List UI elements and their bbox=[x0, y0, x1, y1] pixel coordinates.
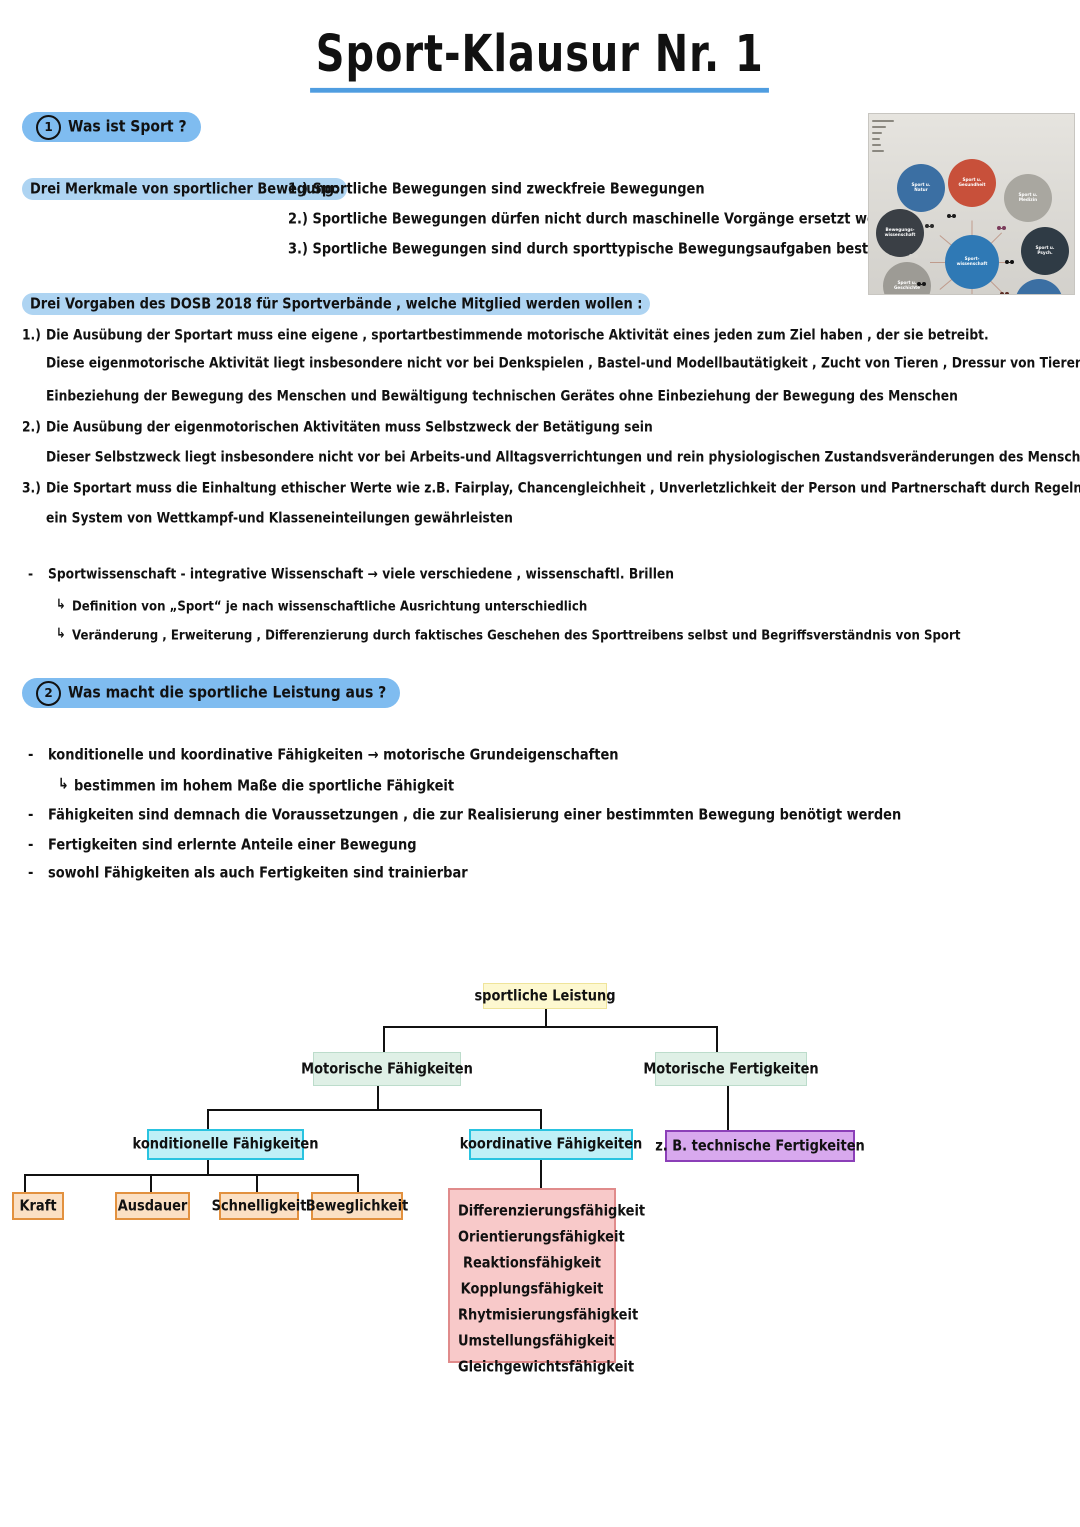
notes-page: Sport-Klausur Nr. 1 1 Was ist Sport ? Dr… bbox=[0, 0, 1080, 1527]
photo-circle: Bewegungs-wissenschaft bbox=[876, 209, 924, 257]
tree-connector bbox=[545, 1007, 547, 1027]
section-2-bullet-5-marker: - bbox=[28, 865, 33, 882]
merkmal-line-2: 2.) Sportliche Bewegungen dürfen nicht d… bbox=[288, 211, 910, 228]
sportwissenschaft-sub-2: Veränderung , Erweiterung , Differenzier… bbox=[72, 627, 961, 643]
sportwissenschaft-sub-1: Definition von „Sport“ je nach wissensch… bbox=[72, 598, 587, 614]
tree-node-technische-fertigkeiten[interactable]: z. B. technische Fertigkeiten bbox=[665, 1130, 855, 1162]
tree-node-motorische-fertigkeiten[interactable]: Motorische Fertigkeiten bbox=[655, 1052, 807, 1086]
section-2-bullet-1-marker: - bbox=[28, 747, 33, 764]
photo-circle: Sport u.Gesundheit bbox=[948, 159, 996, 207]
tree-connector bbox=[540, 1160, 542, 1188]
dosb-1-line-3: Einbeziehung der Bewegung des Menschen u… bbox=[46, 388, 958, 404]
glasses-icon bbox=[917, 282, 926, 286]
section-2-bullet-4: Fertigkeiten sind erlernte Anteile einer… bbox=[48, 837, 417, 854]
leistung-tree-diagram: sportliche Leistung Motorische Fähigkeit… bbox=[0, 960, 1080, 1420]
glasses-icon bbox=[947, 214, 956, 218]
tree-node-motorische-fertigkeiten-label: Motorische Fertigkeiten bbox=[643, 1060, 818, 1077]
koordinative-item: Gleichgewichtsfähigkeit bbox=[458, 1359, 606, 1376]
glasses-icon bbox=[1000, 292, 1009, 295]
section-2-bullet-3-marker: - bbox=[28, 807, 33, 824]
tree-node-technische-fertigkeiten-label: z. B. technische Fertigkeiten bbox=[655, 1137, 865, 1154]
koordinative-item: Reaktionsfähigkeit bbox=[458, 1255, 606, 1272]
tree-node-konditionelle-faehigkeiten-label: konditionelle Fähigkeiten bbox=[133, 1136, 319, 1153]
tree-connector bbox=[383, 1026, 385, 1054]
section-2-heading: 2 Was macht die sportliche Leistung aus … bbox=[22, 678, 400, 708]
dosb-3-line-1: Die Sportart muss die Einhaltung ethisch… bbox=[46, 480, 1080, 496]
section-1-heading-label: Was ist Sport ? bbox=[68, 118, 187, 136]
tree-node-root[interactable]: sportliche Leistung bbox=[483, 983, 607, 1009]
tree-leaf-beweglichkeit-label: Beweglichkeit bbox=[306, 1197, 409, 1214]
dosb-1-line-1: Die Ausübung der Sportart muss eine eige… bbox=[46, 327, 989, 343]
sportwissenschaft-sub-2-arrow: ↳ bbox=[56, 625, 66, 641]
koordinative-item: Kopplungsfähigkeit bbox=[458, 1281, 606, 1298]
glasses-icon bbox=[1005, 260, 1014, 264]
tree-connector bbox=[377, 1086, 379, 1110]
glasses-icon bbox=[997, 226, 1006, 230]
dosb-2-line-2: Dieser Selbstzweck liegt insbesondere ni… bbox=[46, 449, 1080, 465]
tree-leaf-ausdauer-label: Ausdauer bbox=[118, 1197, 188, 1214]
section-2-bullet-3: Fähigkeiten sind demnach die Voraussetzu… bbox=[48, 807, 901, 824]
merkmal-line-1: 1.) Sportliche Bewegungen sind zweckfrei… bbox=[288, 181, 705, 198]
dosb-2-line-1: Die Ausübung der eigenmotorischen Aktivi… bbox=[46, 419, 653, 435]
tree-leaf-schnelligkeit-label: Schnelligkeit bbox=[212, 1197, 307, 1214]
dosb-3-marker: 3.) bbox=[22, 480, 41, 496]
tree-node-motorische-faehigkeiten[interactable]: Motorische Fähigkeiten bbox=[313, 1052, 461, 1086]
tree-leaf-kraft-label: Kraft bbox=[19, 1197, 56, 1214]
section-2-bullet-1: konditionelle und koordinative Fähigkeit… bbox=[48, 747, 619, 764]
section-2-number: 2 bbox=[36, 681, 61, 706]
koordinative-item: Orientierungsfähigkeit bbox=[458, 1229, 606, 1246]
koordinative-item: Differenzierungsfähigkeit bbox=[458, 1203, 606, 1220]
glasses-icon bbox=[909, 254, 918, 258]
page-title: Sport-Klausur Nr. 1 bbox=[0, 30, 1080, 87]
section-2-bullet-2-marker: ↳ bbox=[58, 776, 69, 793]
section-2-bullet-4-marker: - bbox=[28, 837, 33, 854]
tree-connector bbox=[357, 1174, 359, 1192]
koordinative-item: Rhytmisierungsfähigkeit bbox=[458, 1307, 606, 1324]
tree-leaf-beweglichkeit[interactable]: Beweglichkeit bbox=[311, 1192, 403, 1220]
tree-connector bbox=[24, 1174, 358, 1176]
tree-node-konditionelle-faehigkeiten[interactable]: konditionelle Fähigkeiten bbox=[147, 1129, 304, 1160]
koordinative-item: Umstellungsfähigkeit bbox=[458, 1333, 606, 1350]
section-1-number: 1 bbox=[36, 115, 61, 140]
dosb-label: Drei Vorgaben des DOSB 2018 für Sportver… bbox=[22, 293, 650, 315]
tree-leaf-kraft[interactable]: Kraft bbox=[12, 1192, 64, 1220]
dosb-label-text: Drei Vorgaben des DOSB 2018 für Sportver… bbox=[30, 295, 642, 312]
tree-node-motorische-faehigkeiten-label: Motorische Fähigkeiten bbox=[301, 1060, 473, 1077]
tree-connector bbox=[24, 1174, 26, 1192]
section-2-bullet-2: bestimmen im hohem Maße die sportliche F… bbox=[74, 778, 454, 795]
tree-connector bbox=[207, 1109, 542, 1111]
tree-node-koordinative-faehigkeiten-label: koordinative Fähigkeiten bbox=[460, 1136, 643, 1153]
section-1-heading: 1 Was ist Sport ? bbox=[22, 112, 201, 142]
tree-connector bbox=[727, 1086, 729, 1130]
merkmal-line-3: 3.) Sportliche Bewegungen sind durch spo… bbox=[288, 241, 906, 258]
tree-connector bbox=[383, 1026, 717, 1028]
section-2-heading-label: Was macht die sportliche Leistung aus ? bbox=[68, 684, 386, 702]
photo-handwriting-marks bbox=[872, 120, 898, 172]
sportwissenschaft-sub-1-arrow: ↳ bbox=[56, 596, 66, 612]
tree-connector bbox=[540, 1109, 542, 1129]
sportwissenschaft-bullet: Sportwissenschaft - integrative Wissensc… bbox=[48, 566, 674, 582]
tree-connector bbox=[256, 1174, 258, 1192]
tree-node-root-label: sportliche Leistung bbox=[474, 987, 615, 1004]
page-title-text: Sport-Klausur Nr. 1 bbox=[310, 24, 769, 92]
tree-connector bbox=[207, 1160, 209, 1175]
tree-leaf-ausdauer[interactable]: Ausdauer bbox=[115, 1192, 190, 1220]
dosb-3-line-2: ein System von Wettkampf-und Klasseneint… bbox=[46, 510, 513, 526]
dosb-1-marker: 1.) bbox=[22, 327, 41, 343]
tree-connector bbox=[150, 1174, 152, 1192]
photo-center-circle: Sport-wissenschaft bbox=[945, 235, 999, 289]
tree-connector bbox=[207, 1109, 209, 1129]
sportwissenschaft-diagram-photo: Sport-wissenschaft Sport u.Gesundheit Sp… bbox=[868, 113, 1075, 295]
photo-circle: Sport u.Medizin bbox=[1004, 174, 1052, 222]
tree-leaf-schnelligkeit[interactable]: Schnelligkeit bbox=[219, 1192, 299, 1220]
tree-koordinative-list[interactable]: Differenzierungsfähigkeit Orientierungsf… bbox=[448, 1188, 616, 1363]
glasses-icon bbox=[925, 224, 934, 228]
photo-circle: Sport u.Psych. bbox=[1021, 227, 1069, 275]
photo-circle: Sport u.Natur bbox=[897, 164, 945, 212]
section-2-bullet-5: sowohl Fähigkeiten als auch Fertigkeiten… bbox=[48, 865, 468, 882]
dosb-2-marker: 2.) bbox=[22, 419, 41, 435]
dosb-1-line-2: Diese eigenmotorische Aktivität liegt in… bbox=[46, 355, 1080, 371]
tree-node-koordinative-faehigkeiten[interactable]: koordinative Fähigkeiten bbox=[469, 1129, 633, 1160]
sportwissenschaft-bullet-marker: - bbox=[28, 566, 33, 582]
tree-connector bbox=[716, 1026, 718, 1054]
